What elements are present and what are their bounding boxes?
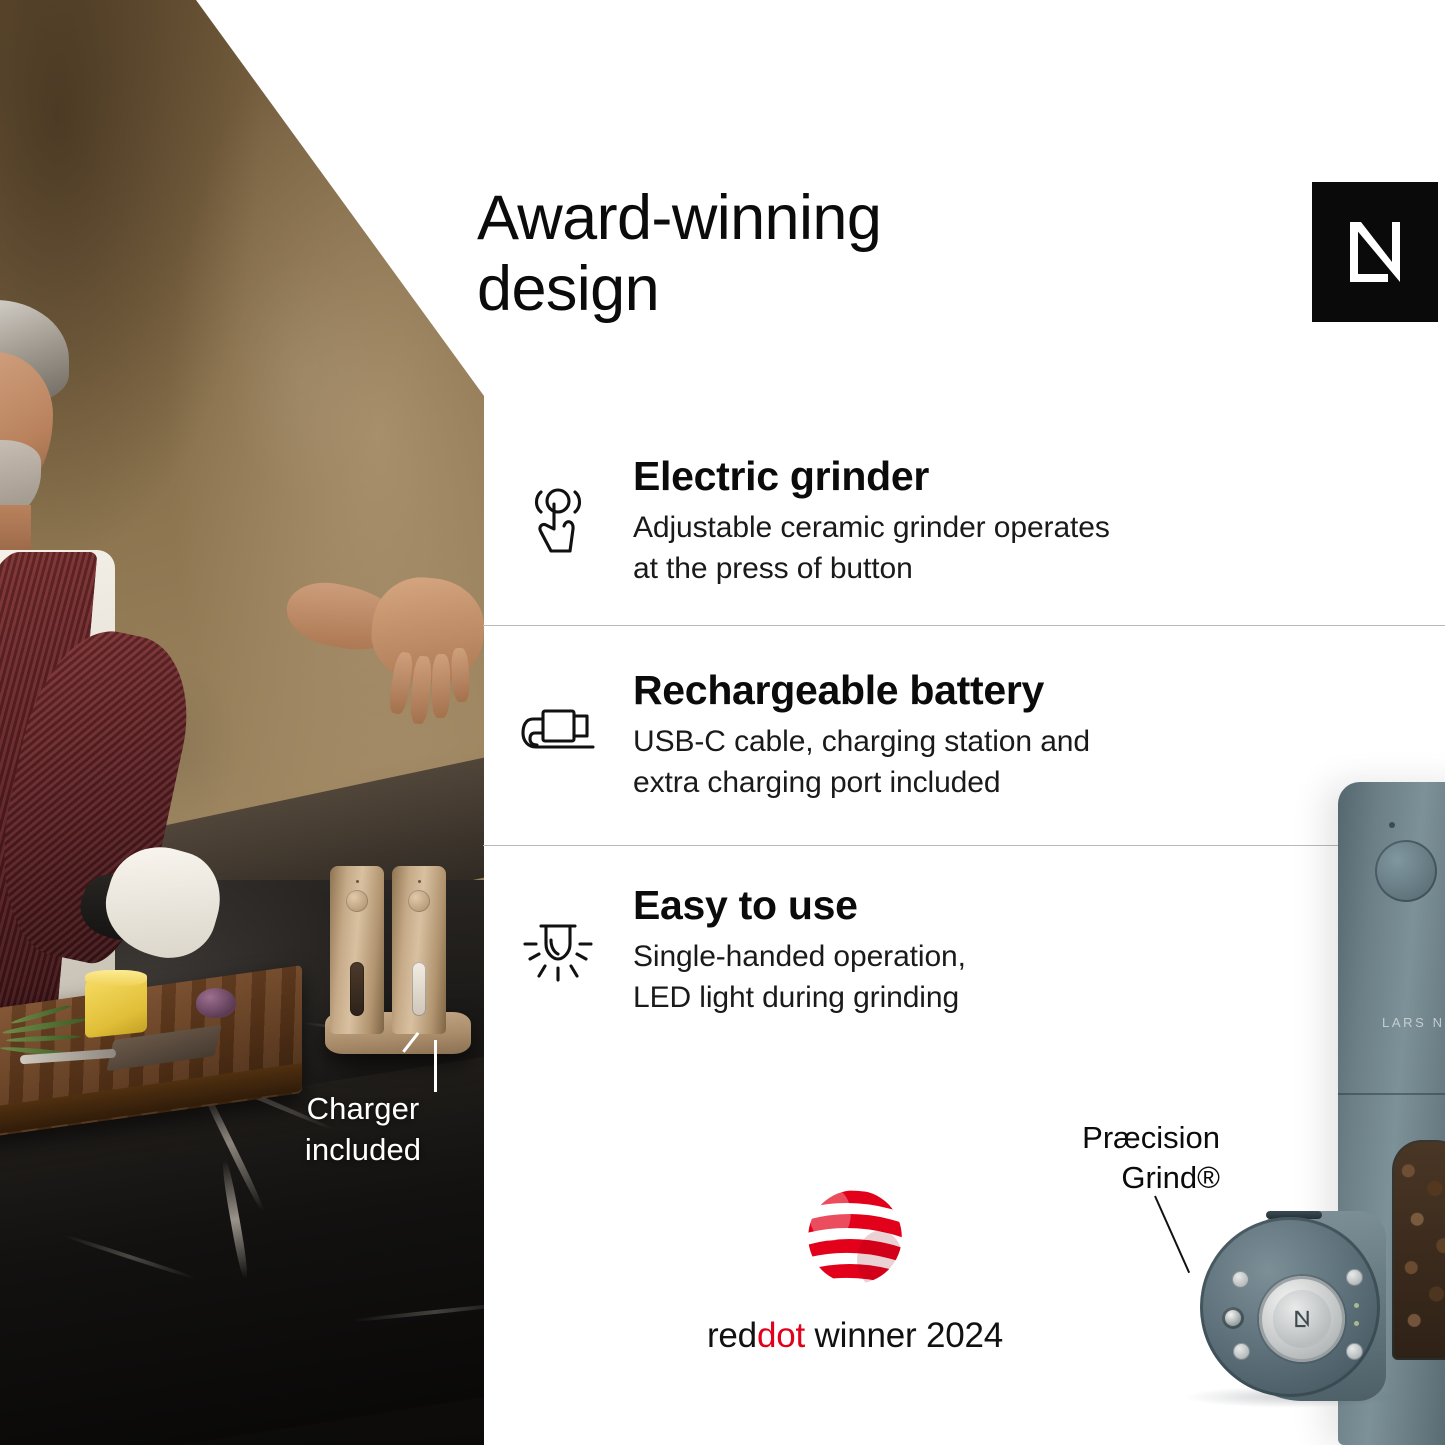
screw-icon xyxy=(1233,1343,1250,1360)
precision-grind-callout: Præcision Grind® xyxy=(1000,1118,1220,1197)
screw-icon xyxy=(1346,1269,1363,1286)
grinder-power-button xyxy=(1375,840,1437,902)
award-text-dot: dot xyxy=(757,1316,805,1355)
feature-list: Electric grinder Adjustable ceramic grin… xyxy=(483,418,1445,1055)
slate-grinder-base-view xyxy=(1188,1205,1388,1405)
feature-text-wrapper: Easy to use Single-handed operation, LED… xyxy=(633,883,1445,1019)
pepper-grinder-tan xyxy=(392,866,446,1034)
feature-row-electric-grinder: Electric grinder Adjustable ceramic grin… xyxy=(483,418,1445,625)
grinder-body-seam xyxy=(1338,1093,1445,1095)
feature-desc-line-1: Single-handed operation, xyxy=(633,937,1405,978)
feature-row-easy-to-use: Easy to use Single-handed operation, LED… xyxy=(483,845,1445,1055)
cheese-top xyxy=(85,970,147,986)
grinder-pepper-window xyxy=(1392,1140,1445,1360)
charger-leader-line-vertical xyxy=(434,1040,437,1092)
award-text-red: red xyxy=(707,1316,757,1355)
feature-title: Electric grinder xyxy=(633,454,1405,500)
feature-text-wrapper: Electric grinder Adjustable ceramic grin… xyxy=(633,454,1445,590)
reddot-award-label: reddot winner 2024 xyxy=(690,1316,1020,1356)
precision-callout-line1: Præcision xyxy=(1000,1118,1220,1158)
screw-icon xyxy=(1232,1271,1249,1288)
led-indicator-dot xyxy=(418,880,421,883)
feature-icon-wrapper xyxy=(483,485,633,559)
feature-desc-line-2: extra charging port included xyxy=(633,763,1405,804)
feature-icon-wrapper xyxy=(483,705,633,767)
ln-monogram-icon xyxy=(1292,1308,1312,1330)
salt-grinder-tan xyxy=(330,866,384,1034)
grinder-window xyxy=(350,962,364,1016)
reddot-award-badge: reddot winner 2024 xyxy=(690,1185,1020,1356)
grinder-power-button xyxy=(346,890,368,912)
usb-c-plug-icon xyxy=(519,705,597,767)
screw-icon xyxy=(1346,1343,1363,1360)
charger-callout-line2: included xyxy=(268,1129,458,1170)
precision-leader-line xyxy=(1154,1196,1190,1274)
ceramic-grinder-core xyxy=(1273,1290,1331,1348)
finger xyxy=(431,654,450,718)
grinder-brand-engraving: LARS NYS xyxy=(1382,1015,1445,1030)
product-feature-graphic: Charger included Award-winning design xyxy=(0,0,1445,1445)
headline-line-1: Award-winning xyxy=(477,183,1237,254)
ln-monogram-icon xyxy=(1338,212,1412,292)
grinder-base-face xyxy=(1200,1217,1380,1397)
precision-callout-line2: Grind® xyxy=(1000,1158,1220,1198)
reddot-sphere-icon xyxy=(803,1185,907,1289)
brand-logo xyxy=(1312,182,1438,322)
award-text-rest: winner 2024 xyxy=(805,1316,1003,1355)
grinder-window xyxy=(412,962,426,1016)
grinder-power-button xyxy=(408,890,430,912)
feature-desc-line-1: Adjustable ceramic grinder operates xyxy=(633,508,1405,549)
lifestyle-photo: Charger included xyxy=(0,0,484,1445)
charger-callout-line1: Charger xyxy=(268,1088,458,1129)
feature-row-rechargeable-battery: Rechargeable battery USB-C cable, chargi… xyxy=(483,625,1445,845)
shallot xyxy=(196,988,236,1018)
feature-title: Easy to use xyxy=(633,883,1405,929)
led-light-icon xyxy=(519,914,597,988)
grinder-led-indicator xyxy=(1389,822,1395,828)
charger-callout: Charger included xyxy=(268,1088,458,1170)
feature-desc-line-2: LED light during grinding xyxy=(633,978,1405,1019)
ceramic-grinder-ring xyxy=(1259,1276,1345,1362)
grinder-led-lamp xyxy=(1222,1307,1244,1329)
contact-pin xyxy=(1354,1321,1359,1326)
tap-finger-icon xyxy=(521,485,595,559)
contact-pin xyxy=(1354,1303,1359,1308)
feature-icon-wrapper xyxy=(483,914,633,988)
feature-desc-line-1: USB-C cable, charging station and xyxy=(633,722,1405,763)
feature-text-wrapper: Rechargeable battery USB-C cable, chargi… xyxy=(633,668,1445,804)
page-title: Award-winning design xyxy=(477,183,1237,324)
feature-title: Rechargeable battery xyxy=(633,668,1405,714)
led-indicator-dot xyxy=(356,880,359,883)
headline-line-2: design xyxy=(477,254,1237,325)
feature-desc-line-2: at the press of button xyxy=(633,549,1405,590)
